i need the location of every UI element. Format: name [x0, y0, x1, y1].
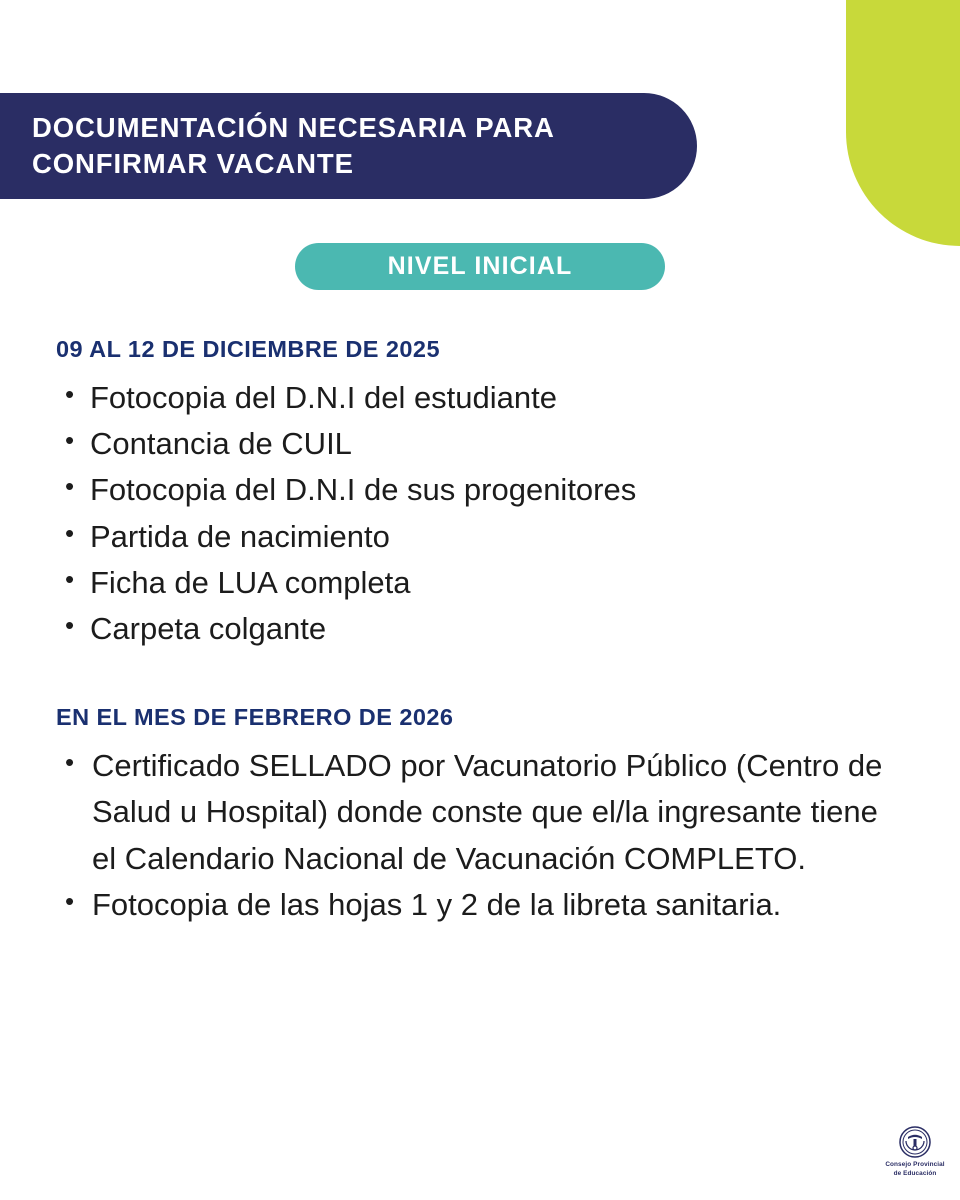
document-list-diciembre: Fotocopia del D.N.I del estudiante Conta… — [56, 375, 906, 652]
list-item: Certificado SELLADO por Vacunatorio Públ… — [56, 743, 906, 882]
list-item: Ficha de LUA completa — [56, 560, 906, 606]
list-item: Carpeta colgante — [56, 606, 906, 652]
footer-logo-caption: Consejo Provincial de Educación — [875, 1161, 955, 1178]
header-banner: DOCUMENTACIÓN NECESARIA PARA CONFIRMAR V… — [0, 93, 697, 199]
section-diciembre: 09 AL 12 DE DICIEMBRE DE 2025 Fotocopia … — [56, 336, 906, 652]
list-item: Partida de nacimiento — [56, 514, 906, 560]
status-badge: NIVEL INICIAL — [295, 243, 665, 290]
decorative-green-shape — [846, 0, 960, 246]
section-heading-febrero: EN EL MES DE FEBRERO DE 2026 — [56, 704, 906, 731]
list-item: Fotocopia del D.N.I de sus progenitores — [56, 467, 906, 513]
level-badge-row: NIVEL INICIAL — [0, 243, 960, 290]
list-item: Contancia de CUIL — [56, 421, 906, 467]
page-title: DOCUMENTACIÓN NECESARIA PARA CONFIRMAR V… — [0, 110, 615, 182]
footer-logo: Consejo Provincial de Educación — [875, 1126, 955, 1178]
content-area: 09 AL 12 DE DICIEMBRE DE 2025 Fotocopia … — [56, 336, 906, 928]
section-heading-diciembre: 09 AL 12 DE DICIEMBRE DE 2025 — [56, 336, 906, 363]
list-item: Fotocopia de las hojas 1 y 2 de la libre… — [56, 882, 906, 928]
list-item: Fotocopia del D.N.I del estudiante — [56, 375, 906, 421]
consejo-provincial-educacion-emblem-icon — [899, 1126, 931, 1158]
section-febrero: EN EL MES DE FEBRERO DE 2026 Certificado… — [56, 704, 906, 928]
document-list-febrero: Certificado SELLADO por Vacunatorio Públ… — [56, 743, 906, 928]
